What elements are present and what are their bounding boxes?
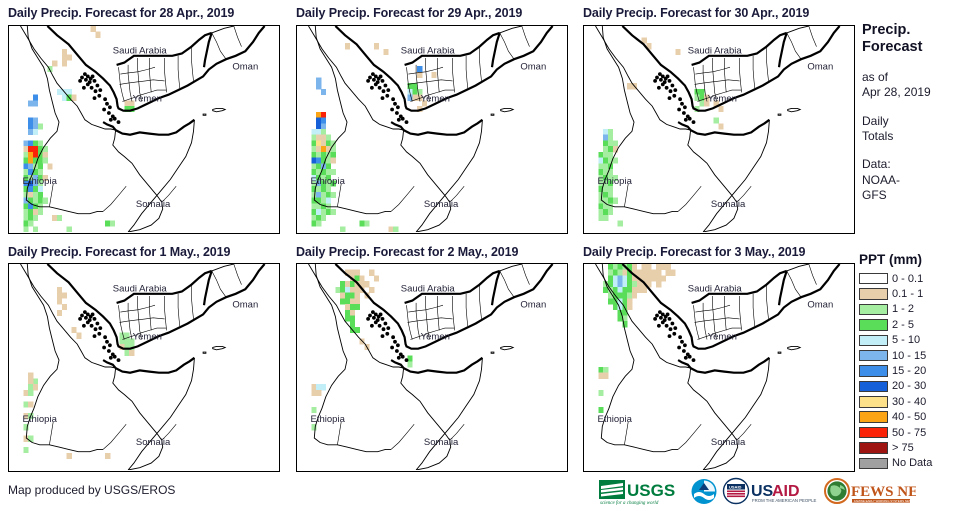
legend-swatch-10	[859, 427, 888, 439]
panel-title-6: Daily Precip. Forecast for 3 May., 2019	[583, 245, 805, 259]
svg-text:science for a changing world: science for a changing world	[600, 501, 659, 506]
legend-label-3: 2 - 5	[892, 319, 914, 331]
panel-title-2: Daily Precip. Forecast for 29 Apr., 2019	[296, 6, 522, 20]
legend-swatch-8	[859, 396, 888, 408]
agency-logo-bar: USGS science for a changing world USAID …	[598, 476, 916, 508]
map-canvas-5: Saudi ArabiaOmanYemenEthiopiaSomalia	[297, 264, 566, 470]
svg-text:Saudi Arabia: Saudi Arabia	[688, 284, 743, 295]
legend-item-9: 40 - 50	[859, 410, 967, 425]
svg-text:Yemen: Yemen	[133, 332, 162, 343]
svg-text:Yemen: Yemen	[421, 332, 450, 343]
legend-label-10: 50 - 75	[892, 427, 926, 439]
legend-swatch-4	[859, 335, 888, 347]
svg-text:Yemen: Yemen	[708, 94, 737, 105]
map-credit: Map produced by USGS/EROS	[8, 483, 175, 497]
map-frame-3[interactable]: Saudi ArabiaOmanYemenEthiopiaSomalia	[583, 25, 855, 234]
legend-swatch-5	[859, 350, 888, 362]
svg-text:FEWS NET: FEWS NET	[851, 484, 916, 500]
svg-text:Oman: Oman	[232, 300, 258, 311]
svg-text:Oman: Oman	[520, 300, 546, 311]
svg-text:Saudi Arabia: Saudi Arabia	[113, 284, 168, 295]
legend-item-1: 0.1 - 1	[859, 286, 967, 301]
svg-text:Somalia: Somalia	[136, 437, 171, 448]
svg-text:Ethiopia: Ethiopia	[598, 414, 633, 425]
legend-rows: 0 - 0.10.1 - 11 - 22 - 55 - 1010 - 1515 …	[859, 271, 967, 471]
legend-item-0: 0 - 0.1	[859, 271, 967, 286]
svg-text:Ethiopia: Ethiopia	[311, 176, 346, 187]
legend-swatch-3	[859, 319, 888, 331]
svg-text:FAMINE EARLY WARNING SYSTEMS N: FAMINE EARLY WARNING SYSTEMS NETWORK	[854, 499, 916, 503]
svg-text:Ethiopia: Ethiopia	[23, 176, 58, 187]
legend-label-8: 30 - 40	[892, 396, 926, 408]
svg-text:Somalia: Somalia	[424, 199, 459, 210]
info-data-source: Data: NOAA- GFS	[862, 157, 967, 203]
info-data-line3: GFS	[862, 188, 967, 203]
info-totals: Daily Totals	[862, 114, 967, 145]
svg-text:Somalia: Somalia	[711, 199, 746, 210]
svg-text:Ethiopia: Ethiopia	[23, 414, 58, 425]
info-column: Precip. Forecast as of Apr 28, 2019 Dail…	[862, 22, 967, 203]
legend-label-11: > 75	[892, 442, 914, 454]
info-as-of: as of Apr 28, 2019	[862, 70, 967, 101]
precip-raster	[23, 287, 134, 459]
legend-swatch-11	[859, 442, 888, 454]
info-totals-line2: Totals	[862, 129, 967, 144]
svg-text:Saudi Arabia: Saudi Arabia	[113, 46, 168, 57]
fewsnet-logo: FEWS NET FAMINE EARLY WARNING SYSTEMS NE…	[824, 477, 916, 507]
svg-text:Yemen: Yemen	[421, 94, 450, 105]
legend-item-3: 2 - 5	[859, 317, 967, 332]
info-title-line1: Precip.	[862, 22, 967, 39]
svg-text:Somalia: Somalia	[711, 437, 746, 448]
legend-swatch-9	[859, 411, 888, 423]
legend-label-7: 20 - 30	[892, 380, 926, 392]
svg-text:USAID: USAID	[729, 485, 742, 490]
precip-raster	[311, 43, 436, 232]
map-frame-6[interactable]: Saudi ArabiaOmanYemenEthiopiaSomalia	[583, 263, 855, 472]
svg-text:USGS: USGS	[627, 481, 675, 500]
usgs-logo: USGS science for a changing world	[598, 477, 686, 507]
legend-swatch-6	[859, 365, 888, 377]
svg-text:Saudi Arabia: Saudi Arabia	[688, 46, 743, 57]
info-totals-line1: Daily	[862, 114, 967, 129]
svg-text:Somalia: Somalia	[136, 199, 171, 210]
panel-title-3: Daily Precip. Forecast for 30 Apr., 2019	[583, 6, 809, 20]
legend-swatch-2	[859, 304, 888, 316]
legend-swatch-1	[859, 288, 888, 300]
legend-item-4: 5 - 10	[859, 333, 967, 348]
svg-text:Somalia: Somalia	[424, 437, 459, 448]
legend-item-11: > 75	[859, 440, 967, 455]
noaa-logo	[690, 477, 718, 507]
legend-item-2: 1 - 2	[859, 302, 967, 317]
svg-text:Yemen: Yemen	[708, 332, 737, 343]
map-frame-4[interactable]: Saudi ArabiaOmanYemenEthiopiaSomalia	[8, 263, 280, 472]
legend-label-2: 1 - 2	[892, 303, 914, 315]
svg-text:Ethiopia: Ethiopia	[311, 414, 346, 425]
legend-item-6: 15 - 20	[859, 363, 967, 378]
panel-title-5: Daily Precip. Forecast for 2 May., 2019	[296, 245, 518, 259]
legend-item-8: 30 - 40	[859, 394, 967, 409]
svg-text:Ethiopia: Ethiopia	[598, 176, 633, 187]
info-as-of-date: Apr 28, 2019	[862, 85, 967, 100]
svg-text:Saudi Arabia: Saudi Arabia	[401, 46, 456, 57]
usaid-logo: USAID US AID FROM THE AMERICAN PEOPLE	[722, 477, 820, 507]
legend-item-10: 50 - 75	[859, 425, 967, 440]
precipitation-legend: PPT (mm) 0 - 0.10.1 - 11 - 22 - 55 - 101…	[859, 252, 967, 471]
legend-item-5: 10 - 15	[859, 348, 967, 363]
map-canvas-3: Saudi ArabiaOmanYemenEthiopiaSomalia	[584, 26, 853, 232]
map-frame-5[interactable]: Saudi ArabiaOmanYemenEthiopiaSomalia	[296, 263, 568, 472]
svg-text:Oman: Oman	[807, 300, 833, 311]
legend-item-7: 20 - 30	[859, 379, 967, 394]
legend-swatch-7	[859, 381, 888, 393]
legend-label-0: 0 - 0.1	[892, 273, 923, 285]
info-title: Precip. Forecast	[862, 22, 967, 57]
legend-title: PPT (mm)	[859, 252, 967, 267]
svg-text:Oman: Oman	[807, 62, 833, 73]
legend-label-12: No Data	[892, 457, 932, 469]
legend-swatch-0	[859, 273, 888, 285]
panel-title-1: Daily Precip. Forecast for 28 Apr., 2019	[8, 6, 234, 20]
info-data-label: Data:	[862, 157, 967, 172]
svg-text:FROM THE AMERICAN PEOPLE: FROM THE AMERICAN PEOPLE	[752, 498, 817, 503]
svg-text:Oman: Oman	[232, 62, 258, 73]
legend-swatch-12	[859, 458, 888, 470]
svg-text:Saudi Arabia: Saudi Arabia	[401, 284, 456, 295]
legend-label-6: 15 - 20	[892, 365, 926, 377]
svg-text:Oman: Oman	[520, 62, 546, 73]
map-frame-2[interactable]: Saudi ArabiaOmanYemenEthiopiaSomalia	[296, 25, 568, 234]
panel-title-4: Daily Precip. Forecast for 1 May., 2019	[8, 245, 230, 259]
map-canvas-1: Saudi ArabiaOmanYemenEthiopiaSomalia	[9, 26, 278, 232]
map-canvas-4: Saudi ArabiaOmanYemenEthiopiaSomalia	[9, 264, 278, 470]
map-canvas-6: Saudi ArabiaOmanYemenEthiopiaSomalia	[584, 264, 853, 470]
map-frame-1[interactable]: Saudi ArabiaOmanYemenEthiopiaSomalia	[8, 25, 280, 234]
legend-label-5: 10 - 15	[892, 350, 926, 362]
info-data-line2: NOAA-	[862, 173, 967, 188]
precip-raster	[598, 264, 675, 413]
legend-label-4: 5 - 10	[892, 334, 920, 346]
map-canvas-2: Saudi ArabiaOmanYemenEthiopiaSomalia	[297, 26, 566, 232]
svg-text:Yemen: Yemen	[133, 94, 162, 105]
legend-label-9: 40 - 50	[892, 411, 926, 423]
info-as-of-line1: as of	[862, 70, 967, 85]
legend-item-12: No Data	[859, 456, 967, 471]
legend-label-1: 0.1 - 1	[892, 288, 923, 300]
info-title-line2: Forecast	[862, 39, 967, 56]
